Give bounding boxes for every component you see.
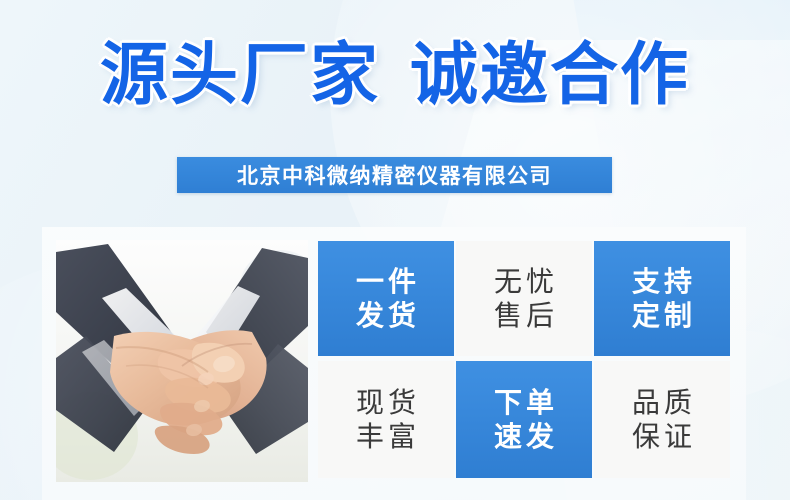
headline-part-1: 源头厂家 xyxy=(100,36,380,115)
feature-line-2: 速发 xyxy=(490,420,558,454)
feature-line-1: 无忧 xyxy=(490,265,558,299)
feature-line-2: 定制 xyxy=(628,299,696,333)
company-name-banner: 北京中科微纳精密仪器有限公司 xyxy=(177,157,612,193)
feature-line-1: 品质 xyxy=(628,386,696,420)
feature-line-2: 发货 xyxy=(352,299,420,333)
feature-line-2: 售后 xyxy=(490,299,558,333)
feature-tile-1[interactable]: 一件 发货 xyxy=(318,241,454,356)
feature-tile-5[interactable]: 下单 速发 xyxy=(456,361,592,478)
company-name-label: 北京中科微纳精密仪器有限公司 xyxy=(237,160,552,190)
headline-part-2: 诚邀合作 xyxy=(410,36,690,115)
page-title: 源头厂家诚邀合作 xyxy=(0,36,790,116)
feature-grid: 一件 发货 无忧 售后 支持 定制 现货 丰富 下单 速发 品质 保证 xyxy=(318,241,730,478)
promo-poster: 源头厂家诚邀合作 北京中科微纳精密仪器有限公司 xyxy=(0,0,790,500)
feature-tile-2[interactable]: 无忧 售后 xyxy=(456,241,592,356)
handshake-photo xyxy=(56,240,308,482)
feature-tile-6[interactable]: 品质 保证 xyxy=(594,361,730,478)
feature-tile-4[interactable]: 现货 丰富 xyxy=(318,361,454,478)
feature-line-1: 下单 xyxy=(490,386,558,420)
feature-line-1: 现货 xyxy=(352,386,420,420)
feature-tile-3[interactable]: 支持 定制 xyxy=(594,241,730,356)
feature-line-1: 支持 xyxy=(628,265,696,299)
feature-line-2: 保证 xyxy=(628,420,696,454)
feature-line-1: 一件 xyxy=(352,265,420,299)
feature-line-2: 丰富 xyxy=(352,420,420,454)
